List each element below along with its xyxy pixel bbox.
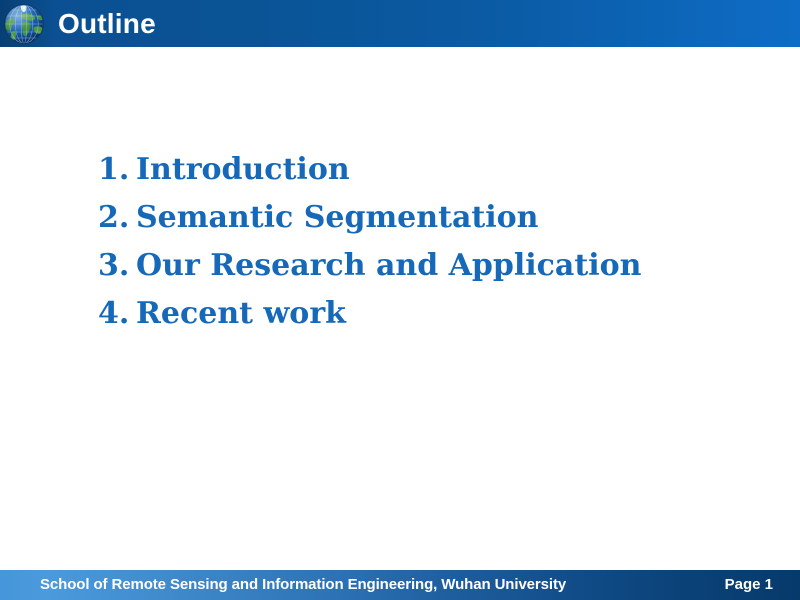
list-item-label: Introduction [136,152,350,187]
list-item: 3.Our Research and Application [98,246,641,294]
footer-affiliation: School of Remote Sensing and Information… [40,570,566,600]
page-number: Page 1 [725,570,773,600]
list-item: 1.Introduction [98,150,641,198]
list-item-label: Semantic Segmentation [136,200,538,235]
slide-body: 1.Introduction 2.Semantic Segmentation 3… [0,47,800,570]
slide-footer: School of Remote Sensing and Information… [0,570,800,600]
list-item-label: Recent work [136,296,346,331]
page-title: Outline [58,5,156,43]
globe-icon [3,3,45,45]
presentation-slide: Outline 1.Introduction 2.Semantic Segmen… [0,0,800,600]
list-item-number: 1. [98,150,136,190]
list-item-label: Our Research and Application [136,248,641,283]
list-item-number: 2. [98,198,136,238]
slide-header: Outline [0,0,800,47]
list-item-number: 3. [98,246,136,286]
list-item: 4.Recent work [98,294,641,342]
outline-list: 1.Introduction 2.Semantic Segmentation 3… [98,150,641,342]
list-item: 2.Semantic Segmentation [98,198,641,246]
list-item-number: 4. [98,294,136,334]
